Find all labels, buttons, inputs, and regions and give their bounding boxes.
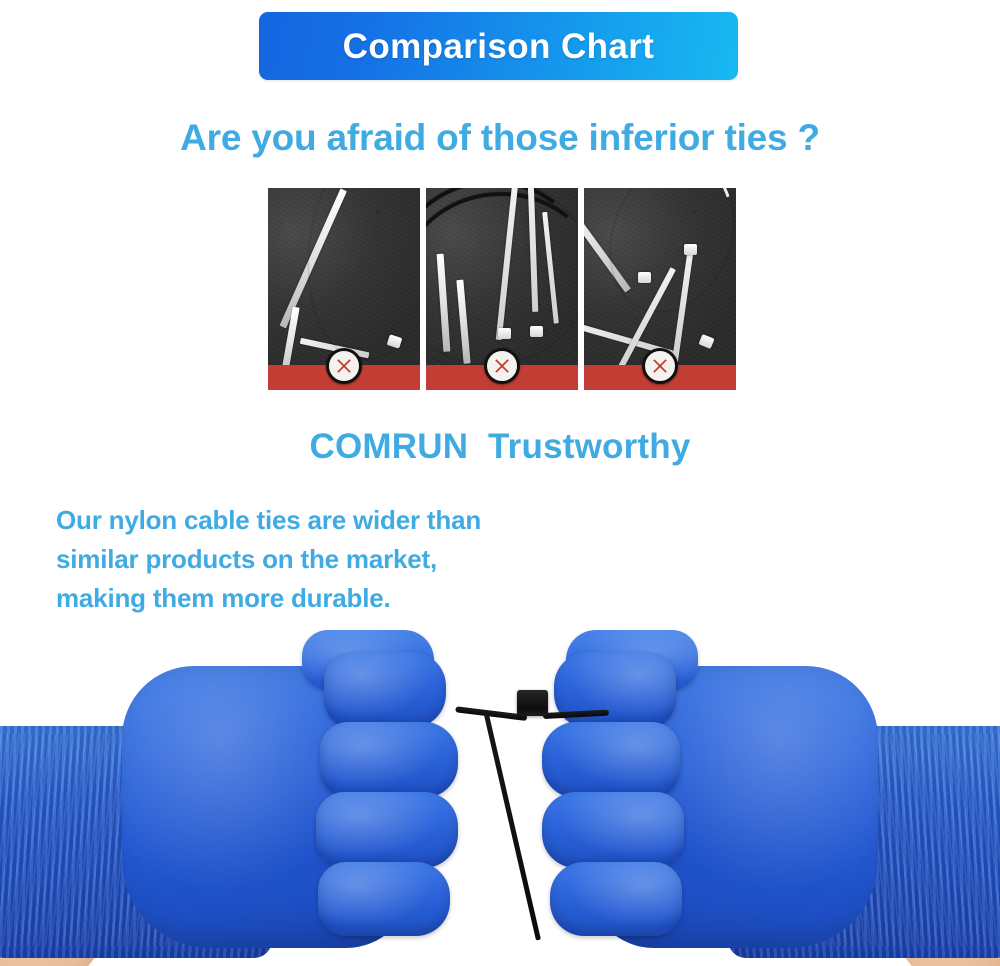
cable-tie-head-black [517, 690, 548, 716]
body-copy-line-1: Our nylon cable ties are wider than [56, 501, 576, 540]
headline-question: Are you afraid of those inferior ties ? [0, 117, 1000, 159]
body-copy: Our nylon cable ties are wider than simi… [56, 501, 576, 618]
comparison-chart-banner: Comparison Chart [259, 12, 738, 80]
bad-example-panel-3 [584, 188, 736, 390]
cable-tie-head [638, 272, 651, 283]
glove-knuckle [324, 652, 446, 728]
x-mark-icon [484, 348, 520, 384]
cable-tie-head [684, 244, 697, 255]
glove-knuckle [550, 862, 682, 936]
glove-knuckle [318, 862, 450, 936]
gloved-fist-right [508, 630, 1000, 966]
glove-knuckle [320, 722, 458, 798]
body-copy-line-2: similar products on the market, [56, 540, 576, 579]
bad-example-panel-1 [268, 188, 420, 390]
brand-subheading: COMRUN Trustworthy [0, 427, 1000, 467]
bad-examples-panel-group [268, 188, 736, 390]
x-mark-icon [326, 348, 362, 384]
glove-knuckle [542, 792, 684, 868]
body-copy-line-3: making them more durable. [56, 579, 576, 618]
cable-tie-head [498, 328, 511, 339]
glove-knuckle [316, 792, 458, 868]
gloved-hands-photo [0, 630, 1000, 966]
bad-example-panel-2 [426, 188, 578, 390]
comparison-chart-page: Comparison Chart Are you afraid of those… [0, 0, 1000, 966]
x-mark-icon [642, 348, 678, 384]
cable-tie-head [530, 326, 543, 337]
glove-knuckle [542, 722, 680, 798]
page-title: Comparison Chart [343, 29, 655, 64]
gloved-fist-left [0, 630, 492, 966]
